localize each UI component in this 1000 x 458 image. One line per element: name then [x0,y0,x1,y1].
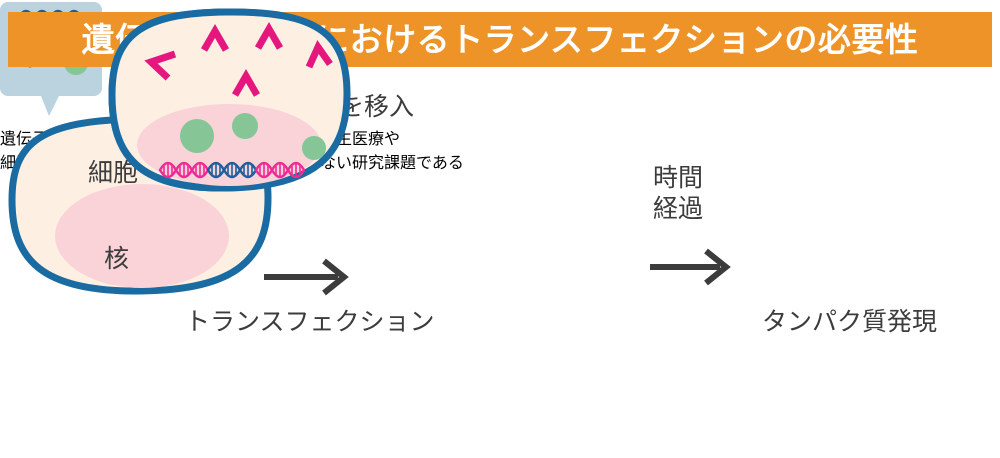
diagram-canvas: 遺伝子細胞研究におけるトランスフェクションの必要性 細胞 核 遺伝子などを移入 [0,0,1000,458]
transfection-label: トランスフェクション [185,308,435,337]
time-elapsed-line-1: 時間 [653,163,703,194]
time-elapsed-line-2: 経過 [653,194,703,225]
vesicle-icon [302,136,326,160]
time-elapsed-label: 時間 経過 [653,163,703,226]
vesicle-icon [232,113,258,139]
arrow-right-icon [648,248,736,286]
protein-expression-label: タンパク質発現 [762,308,937,337]
cell-diagram-expressing [102,0,357,205]
vesicle-icon [180,119,214,153]
nucleus-label: 核 [104,239,129,275]
arrow-right-icon [262,258,354,296]
